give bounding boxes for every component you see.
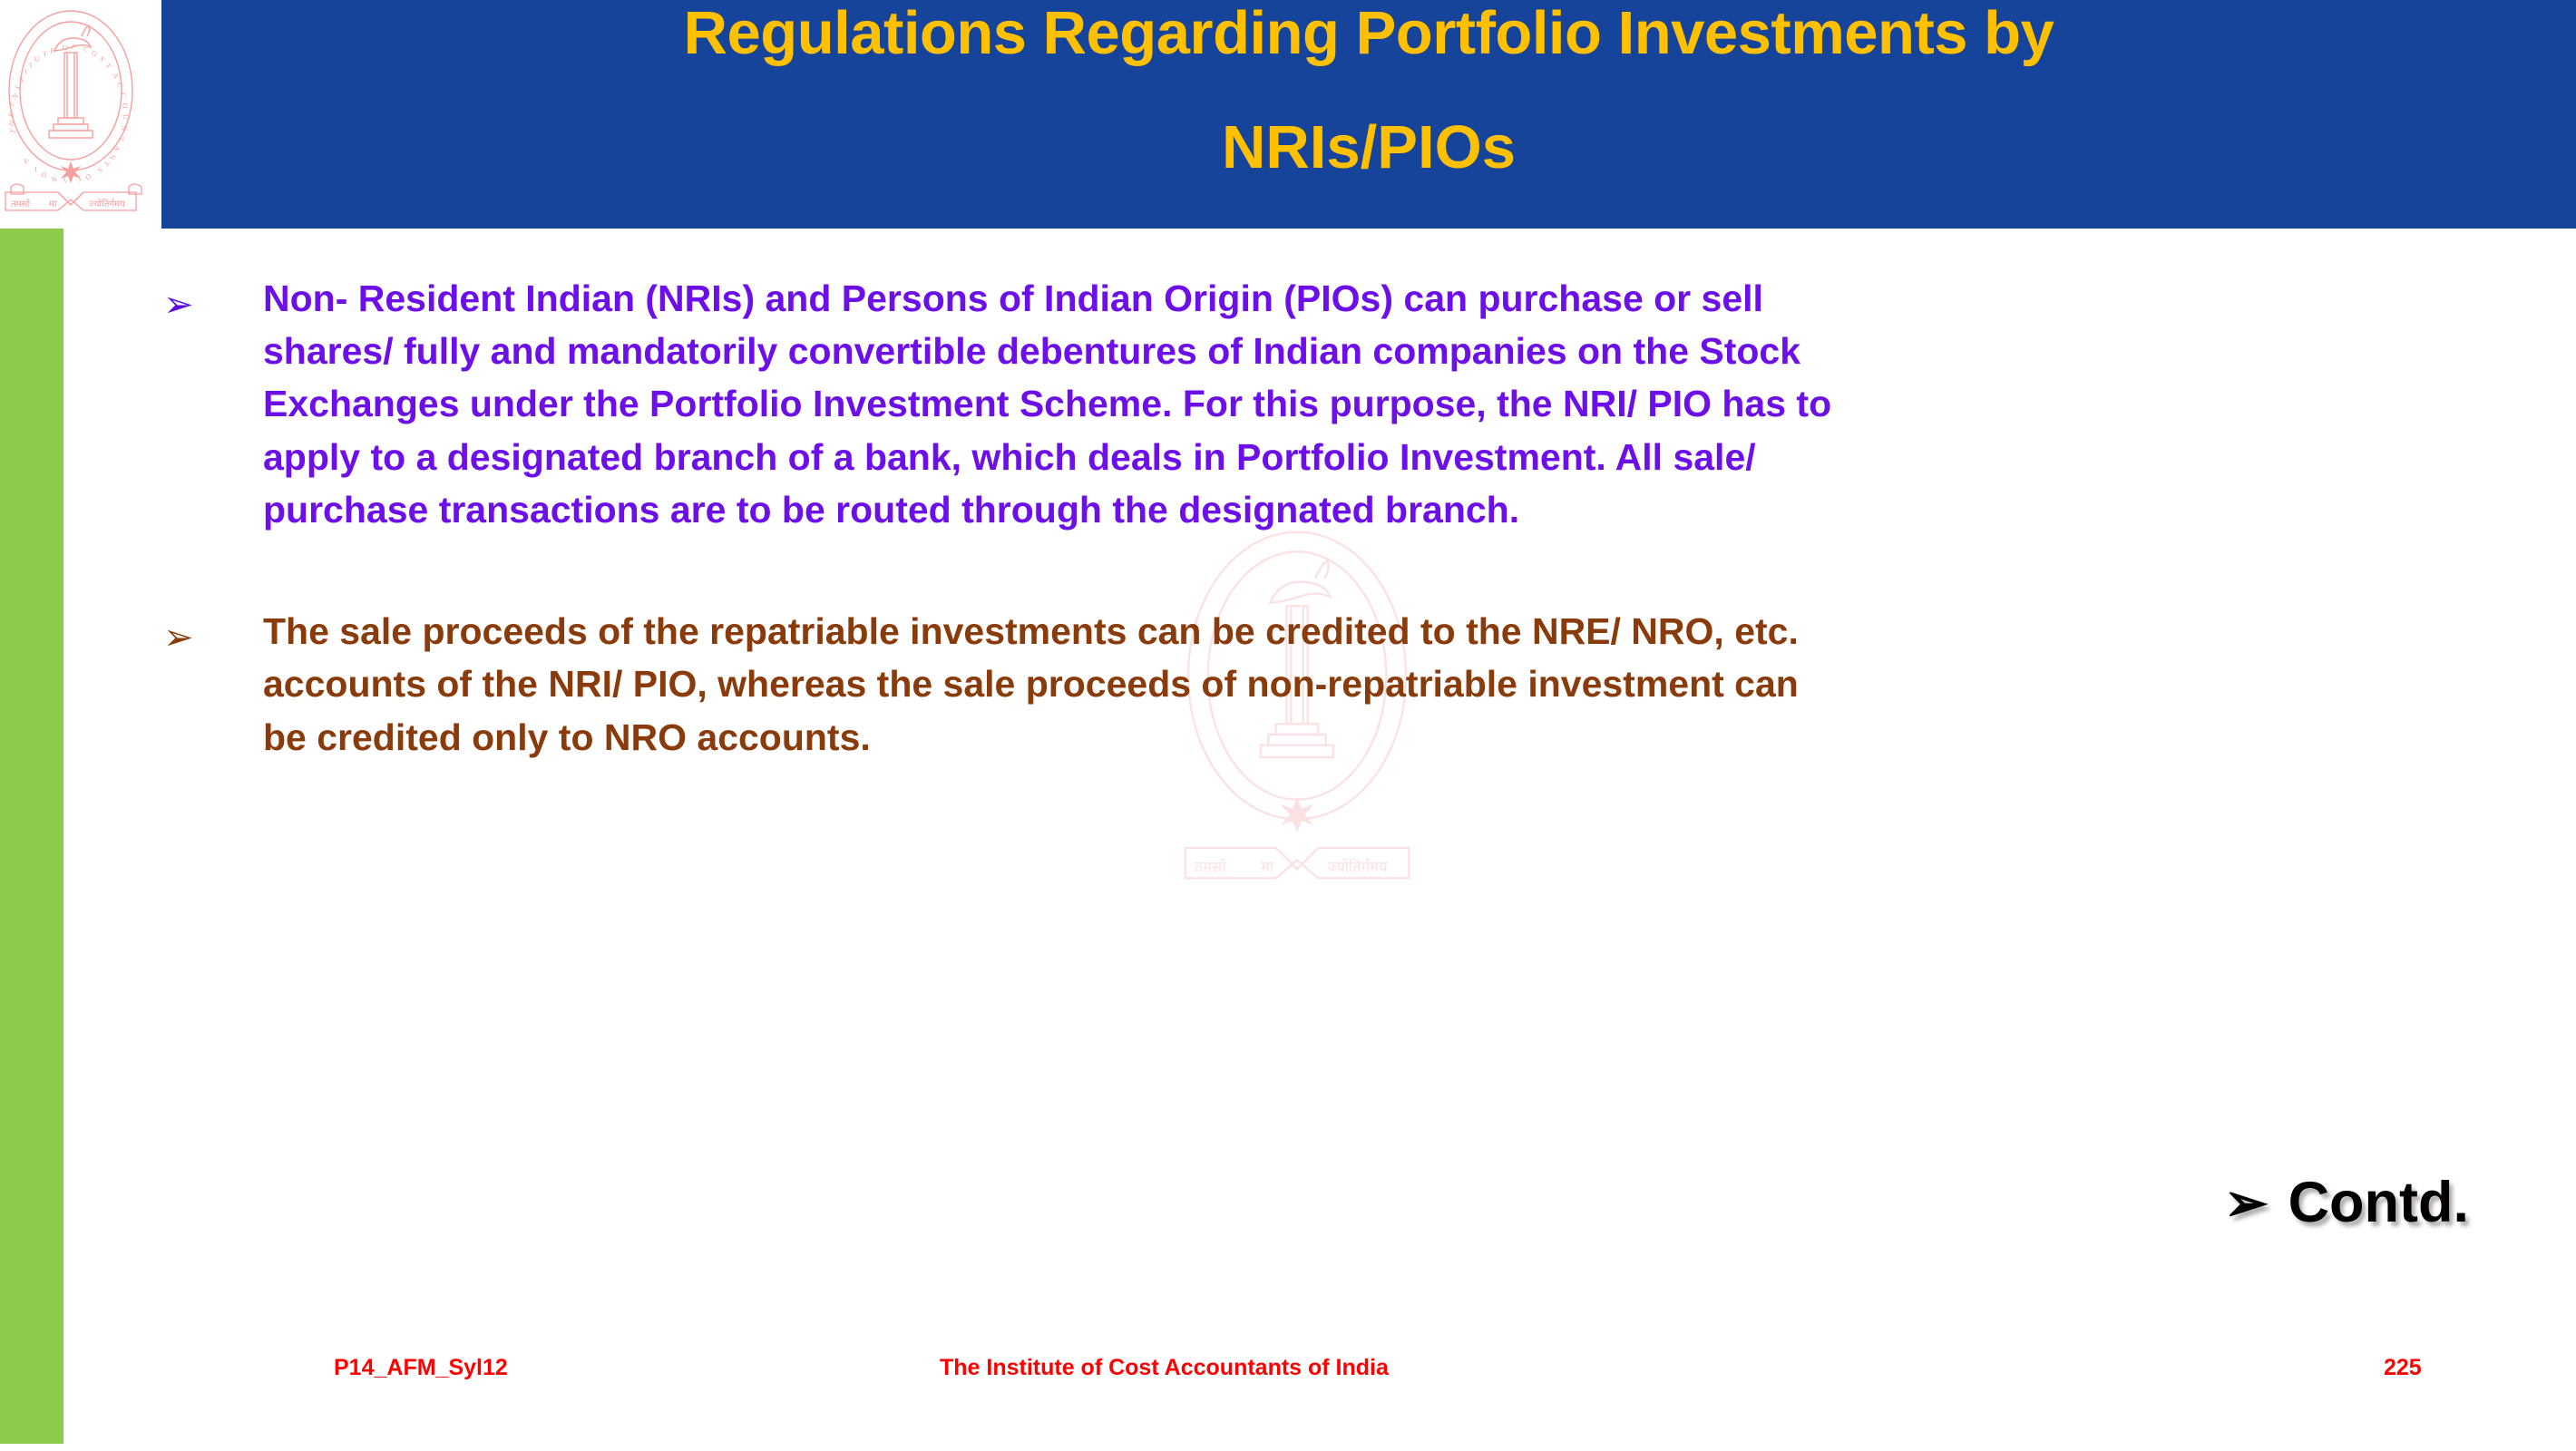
slide-footer: P14_AFM_Syl12 The Institute of Cost Acco…	[0, 1355, 2576, 1400]
svg-text:C: C	[119, 92, 128, 98]
contd-label: Contd.	[2288, 1170, 2469, 1235]
bullet-1-line-3: Exchanges under the Portfolio Investment…	[263, 377, 2522, 430]
svg-text:D: D	[41, 170, 47, 179]
svg-text:तमसो: तमसो	[11, 199, 30, 209]
svg-text:तमसो: तमसो	[1195, 859, 1227, 876]
footer-page-number: 225	[2384, 1355, 2422, 1381]
svg-text:मा: मा	[1261, 859, 1274, 876]
bullet-1-line-2: shares/ fully and mandatorily convertibl…	[263, 325, 2522, 377]
bullet-1-line-1: Non- Resident Indian (NRIs) and Persons …	[263, 272, 2522, 325]
contd-arrow-icon: ➢	[2224, 1172, 2269, 1233]
page-title-line-2: NRIs/PIOs	[161, 116, 2576, 180]
svg-text:T: T	[103, 62, 112, 70]
svg-text:N: N	[51, 174, 58, 183]
bullet-2-text: The sale proceeds of the repatriable inv…	[263, 605, 2522, 764]
svg-text:S: S	[97, 55, 106, 63]
svg-text:A: A	[112, 144, 122, 152]
svg-text:T: T	[43, 50, 47, 58]
svg-text:T: T	[18, 75, 25, 84]
svg-text:O: O	[121, 102, 130, 109]
bullet-2-line-3: be credited only to NRO accounts.	[263, 711, 2522, 764]
svg-text:N: N	[120, 125, 129, 131]
svg-text:I: I	[62, 176, 67, 184]
svg-text:E: E	[50, 46, 55, 55]
footer-course-code: P14_AFM_Syl12	[334, 1355, 508, 1381]
bullet-2-line-1: The sale proceeds of the repatriable inv…	[263, 605, 2522, 657]
svg-text:A: A	[111, 72, 121, 80]
svg-text:U: U	[122, 114, 130, 120]
slide-canvas: Regulations Regarding Portfolio Investme…	[0, 0, 2576, 1451]
bullet-2-line-2: accounts of the NRI/ PIO, whereas the sa…	[263, 657, 2522, 710]
footer-institute-name: The Institute of Cost Accountants of Ind…	[940, 1355, 1389, 1381]
svg-text:C: C	[115, 82, 124, 89]
bullet-1-text: Non- Resident Indian (NRIs) and Persons …	[263, 272, 2522, 536]
svg-text:O: O	[83, 171, 93, 181]
svg-text:C: C	[82, 44, 90, 54]
svg-text:O: O	[90, 49, 99, 59]
bullet-1-line-4: apply to a designated branch of a bank, …	[263, 431, 2522, 483]
left-accent-bar	[0, 229, 63, 1444]
svg-text:I: I	[24, 67, 29, 75]
svg-text:U: U	[34, 55, 40, 63]
bullet-item-1: ➢ Non- Resident Indian (NRIs) and Person…	[163, 272, 2522, 536]
page-title-line-1: Regulations Regarding Portfolio Investme…	[684, 2, 2054, 64]
icai-logo: T H E I N S T I T U T E O F C O S T A C	[2, 0, 165, 229]
svg-text:F: F	[70, 43, 77, 52]
continued-marker: ➢ Contd.	[2224, 1170, 2469, 1235]
page-title: Regulations Regarding Portfolio Investme…	[161, 2, 2576, 125]
svg-text:N: N	[11, 92, 20, 102]
bullet-item-2: ➢ The sale proceeds of the repatriable i…	[163, 605, 2522, 764]
svg-text:T: T	[28, 61, 34, 70]
svg-text:A: A	[23, 157, 29, 166]
bullet-arrow-icon: ➢	[163, 272, 263, 331]
svg-text:ज्योतिर्गमय: ज्योतिर्गमय	[89, 199, 125, 209]
svg-text:S: S	[95, 166, 104, 174]
bullet-1-line-5: purchase transactions are to be routed t…	[263, 483, 2522, 536]
svg-text:I: I	[34, 165, 37, 173]
bullet-arrow-icon: ➢	[163, 605, 263, 664]
svg-text:ज्योतिर्गमय: ज्योतिर्गमय	[1327, 859, 1388, 876]
svg-text:T: T	[102, 160, 111, 168]
slide-body: ➢ Non- Resident Indian (NRIs) and Person…	[163, 272, 2522, 773]
svg-text:I: I	[8, 101, 16, 108]
bullet-spacer	[163, 545, 2522, 605]
svg-text:मा: मा	[49, 200, 57, 209]
